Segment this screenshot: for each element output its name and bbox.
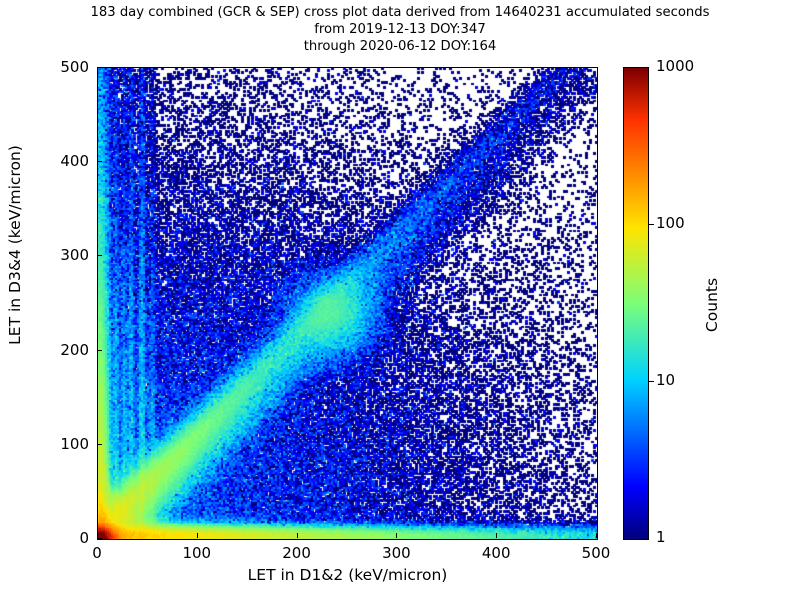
x-tick-label-200: 200: [267, 546, 327, 561]
x-tick-label-300: 300: [366, 546, 426, 561]
figure-title: 183 day combined (GCR & SEP) cross plot …: [0, 4, 800, 55]
y-tick-label-500: 500: [29, 60, 89, 75]
y-tick-mark: [97, 67, 102, 68]
plot-area: [97, 67, 598, 540]
x-tick-mark: [496, 533, 497, 538]
y-tick-mark: [97, 255, 102, 256]
colorbar-tick-mark: [649, 224, 654, 225]
colorbar-tick-mark: [649, 381, 654, 382]
y-tick-label-400: 400: [29, 154, 89, 169]
y-axis-label: LET in D3&4 (keV/micron): [6, 0, 24, 525]
y-tick-label-300: 300: [29, 248, 89, 263]
x-tick-mark: [596, 533, 597, 538]
x-tick-mark: [197, 533, 198, 538]
figure-canvas: 183 day combined (GCR & SEP) cross plot …: [0, 0, 800, 600]
colorbar-label: Counts: [703, 199, 721, 411]
title-line-1: 183 day combined (GCR & SEP) cross plot …: [0, 4, 800, 21]
y-tick-label-200: 200: [29, 343, 89, 358]
y-tick-label-0: 0: [29, 531, 89, 546]
x-axis-label: LET in D1&2 (keV/micron): [97, 566, 598, 584]
y-tick-label-100: 100: [29, 437, 89, 452]
colorbar-gradient: [624, 68, 648, 539]
x-tick-mark: [297, 533, 298, 538]
x-tick-mark: [97, 533, 98, 538]
colorbar-tick-label-1000: 1000: [656, 59, 726, 74]
title-line-3: through 2020-06-12 DOY:164: [0, 38, 800, 55]
colorbar: [623, 67, 649, 540]
density-scatter-canvas: [98, 68, 597, 539]
y-tick-mark: [97, 161, 102, 162]
title-line-2: from 2019-12-13 DOY:347: [0, 21, 800, 38]
x-tick-mark: [396, 533, 397, 538]
y-tick-mark: [97, 350, 102, 351]
colorbar-tick-label-1: 1: [656, 530, 726, 545]
x-tick-label-400: 400: [466, 546, 526, 561]
x-tick-label-0: 0: [67, 546, 127, 561]
y-tick-mark: [97, 444, 102, 445]
x-tick-label-100: 100: [167, 546, 227, 561]
y-tick-mark: [97, 538, 102, 539]
x-tick-label-500: 500: [566, 546, 626, 561]
